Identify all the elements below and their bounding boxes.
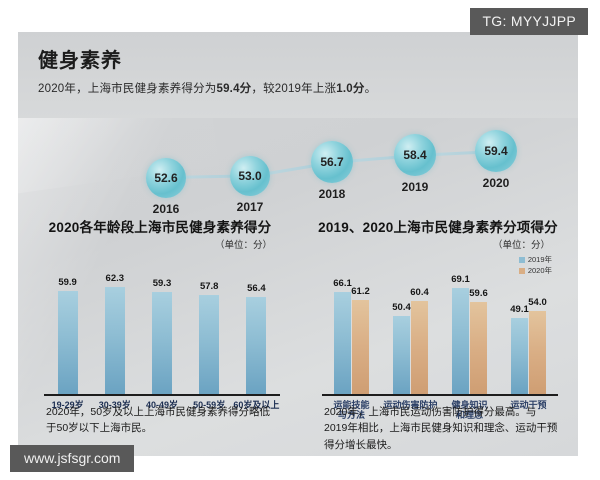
timeline-bubble-2019: 58.4 [394,134,436,176]
age-group-bar-plot: 59.919-29岁62.330-39岁59.340-49岁57.850-59岁… [44,266,280,396]
bar-2019年-健身知识和理念: 69.1 [452,288,469,394]
bar-value-label: 50.4 [392,302,411,313]
bar-19-29岁: 59.9 [58,291,78,393]
panel-age-groups: 2020各年龄段上海市民健身素养得分 （单位：分） 59.919-29岁62.3… [26,208,294,448]
panel-right-unit: （单位：分） [493,237,550,251]
bar-group: 50.460.4 [381,301,440,394]
bar-60岁及以上: 56.4 [246,297,266,393]
legend-label: 2019年 [528,254,552,265]
bar-2020年-运动伤害防护: 60.4 [411,301,428,394]
bar-value-label: 62.3 [106,273,125,284]
header-summary-part3: 。 [365,83,377,95]
x-axis-line [322,394,558,397]
panel-subscores: 2019、2020上海市民健身素养分项得分 （单位：分） 2019年2020年 … [304,208,572,448]
timeline-bubble-2017: 53.0 [230,156,270,196]
bar-group: 62.3 [91,287,138,393]
x-axis-line [44,394,280,397]
panel-right-title: 2019、2020上海市民健身素养分项得分 [304,216,572,236]
telegram-badge: TG: MYYJJPP [470,8,588,35]
bar-value-label: 69.1 [451,274,470,285]
poster-header: 健身素养 2020年，上海市民健身素养得分为59.4分，较2019年上涨1.0分… [18,32,578,118]
bar-2020年-运动干预: 54.0 [529,311,546,394]
timeline-bubble-2016: 52.6 [146,158,186,198]
timeline-bubble-value: 58.4 [403,148,426,162]
bar-value-label: 59.9 [58,277,77,288]
timeline-bubble-value: 56.7 [320,155,343,169]
bar-value-label: 66.1 [333,278,352,289]
bar-value-label: 61.2 [351,286,370,297]
bar-group: 66.161.2 [322,292,381,393]
bar-2019年-运动伤害防护: 50.4 [393,316,410,393]
timeline-year-label-2020: 2020 [468,176,524,190]
bar-2019年-运动干预: 49.1 [511,318,528,393]
panel-left-title: 2020各年龄段上海市民健身素养得分 [26,216,294,236]
timeline-bubble-value: 52.6 [154,171,177,185]
header-summary-delta: 1.0分 [336,83,364,95]
bar-group: 59.3 [138,292,185,393]
site-watermark: www.jsfsgr.com [10,445,134,472]
bar-value-label: 49.1 [510,304,529,315]
bar-value-label: 57.8 [200,281,219,292]
header-summary-part2: ，较2019年上涨 [251,83,336,95]
subscore-bar-plot: 66.161.2运能技能 与方法50.460.4运动伤害防护69.159.6健身… [322,266,558,396]
bar-40-49岁: 59.3 [152,292,172,393]
bar-2020年-健身知识和理念: 59.6 [470,302,487,393]
bar-value-label: 59.6 [469,288,488,299]
timeline-chart: 52.6201653.0201756.7201858.4201959.42020 [18,116,578,202]
header-summary: 2020年，上海市民健身素养得分为59.4分，较2019年上涨1.0分。 [38,80,376,96]
bar-2020年-运能技能与方法: 61.2 [352,300,369,394]
bar-group: 57.8 [186,295,233,394]
legend-item-2019年: 2019年 [519,254,552,265]
timeline-bubble-value: 53.0 [238,169,261,183]
bar-2019年-运能技能与方法: 66.1 [334,292,351,393]
timeline-year-label-2019: 2019 [387,180,443,194]
panel-right-note: 2020年，上海市民运动伤害防护得分最高。与2019年相比，上海市民健身知识和理… [324,404,558,453]
timeline-year-label-2018: 2018 [304,187,360,201]
header-summary-score: 59.4分 [216,83,251,95]
bar-group: 49.154.0 [499,311,558,394]
page-title: 健身素养 [38,44,122,73]
panel-left-unit: （单位：分） [215,237,272,251]
bar-value-label: 54.0 [528,297,547,308]
bar-50-59岁: 57.8 [199,295,219,394]
bar-30-39岁: 62.3 [105,287,125,393]
infographic-poster: 健身素养 2020年，上海市民健身素养得分为59.4分，较2019年上涨1.0分… [18,32,578,456]
legend-swatch-icon [519,257,525,263]
panel-left-note: 2020年，50岁及以上上海市民健身素养得分略低于50岁以下上海市民。 [46,404,280,437]
bar-group: 56.4 [233,297,280,393]
bar-value-label: 60.4 [410,287,429,298]
bar-group: 69.159.6 [440,288,499,394]
header-summary-part1: 2020年，上海市民健身素养得分为 [38,83,216,95]
timeline-bubble-2018: 56.7 [311,141,353,183]
timeline-bubble-2020: 59.4 [475,130,517,172]
timeline-bubble-value: 59.4 [484,144,507,158]
bar-value-label: 59.3 [153,278,172,289]
bar-group: 59.9 [44,291,91,393]
bar-value-label: 56.4 [247,283,266,294]
